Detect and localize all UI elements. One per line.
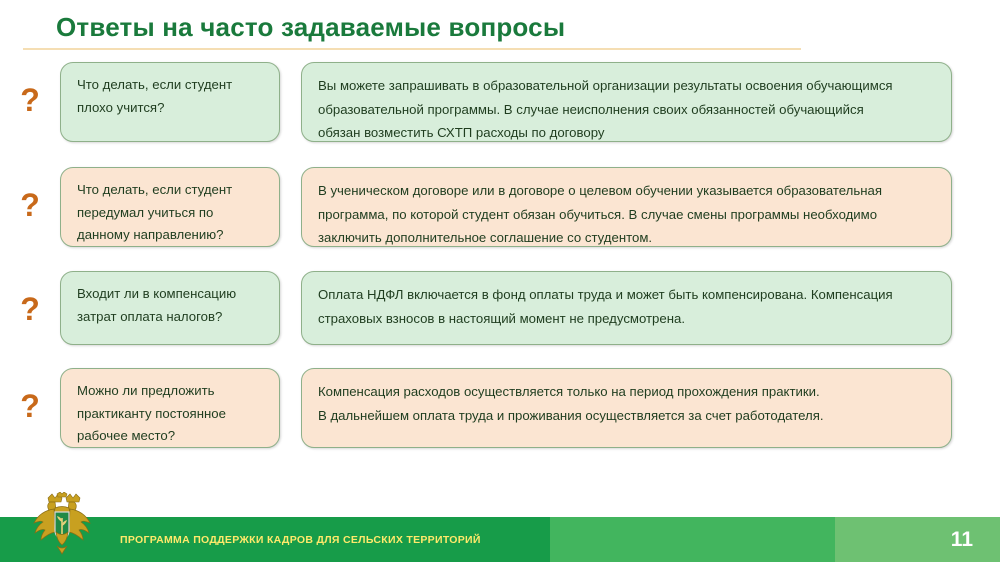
faq-question-box[interactable]: Что делать, если студент плохо учится?: [60, 62, 280, 142]
question-mark-icon: ?: [0, 62, 60, 116]
footer-bar: ПРОГРАММА ПОДДЕРЖКИ КАДРОВ ДЛЯ СЕЛЬСКИХ …: [0, 517, 1000, 562]
ministry-emblem-icon: [26, 492, 98, 558]
faq-answer-box[interactable]: Оплата НДФЛ включается в фонд оплаты тру…: [301, 271, 952, 345]
faq-answer-box[interactable]: Компенсация расходов осуществляется толь…: [301, 368, 952, 448]
page-title: Ответы на часто задаваемые вопросы: [56, 12, 565, 43]
answer-line: заключить дополнительное соглашение со с…: [318, 226, 933, 250]
faq-question-box[interactable]: Входит ли в компенсацию затрат оплата на…: [60, 271, 280, 345]
footer-caption: ПРОГРАММА ПОДДЕРЖКИ КАДРОВ ДЛЯ СЕЛЬСКИХ …: [120, 517, 481, 562]
page-number: 11: [951, 517, 973, 562]
question-mark-icon: ?: [0, 368, 60, 422]
question-mark-icon: ?: [0, 167, 60, 221]
answer-line: программа, по которой студент обязан обу…: [318, 203, 933, 227]
faq-list: ? Что делать, если студент плохо учится?…: [0, 62, 1000, 473]
answer-line: В ученическом договоре или в договоре о …: [318, 179, 933, 203]
faq-row: ? Что делать, если студент передумал учи…: [0, 167, 1000, 271]
faq-row: ? Что делать, если студент плохо учится?…: [0, 62, 1000, 167]
footer-segment-mid: [550, 517, 835, 562]
answer-line: страховых взносов в настоящий момент не …: [318, 307, 933, 331]
faq-row: ? Можно ли предложить практиканту постоя…: [0, 368, 1000, 473]
answer-line: В дальнейшем оплата труда и проживания о…: [318, 404, 933, 428]
question-mark-icon: ?: [0, 271, 60, 325]
faq-answer-box[interactable]: В ученическом договоре или в договоре о …: [301, 167, 952, 247]
faq-question-box[interactable]: Что делать, если студент передумал учить…: [60, 167, 280, 247]
answer-line: обязан возместить СХТП расходы по догово…: [318, 121, 933, 145]
footer-segment-light: [835, 517, 1000, 562]
faq-row: ? Входит ли в компенсацию затрат оплата …: [0, 271, 1000, 368]
answer-line: Оплата НДФЛ включается в фонд оплаты тру…: [318, 283, 933, 307]
answer-line: образовательной программы. В случае неис…: [318, 98, 933, 122]
answer-line: Вы можете запрашивать в образовательной …: [318, 74, 933, 98]
title-underline-rule: [23, 48, 801, 50]
answer-line: Компенсация расходов осуществляется толь…: [318, 380, 933, 404]
faq-answer-box[interactable]: Вы можете запрашивать в образовательной …: [301, 62, 952, 142]
faq-question-box[interactable]: Можно ли предложить практиканту постоянн…: [60, 368, 280, 448]
